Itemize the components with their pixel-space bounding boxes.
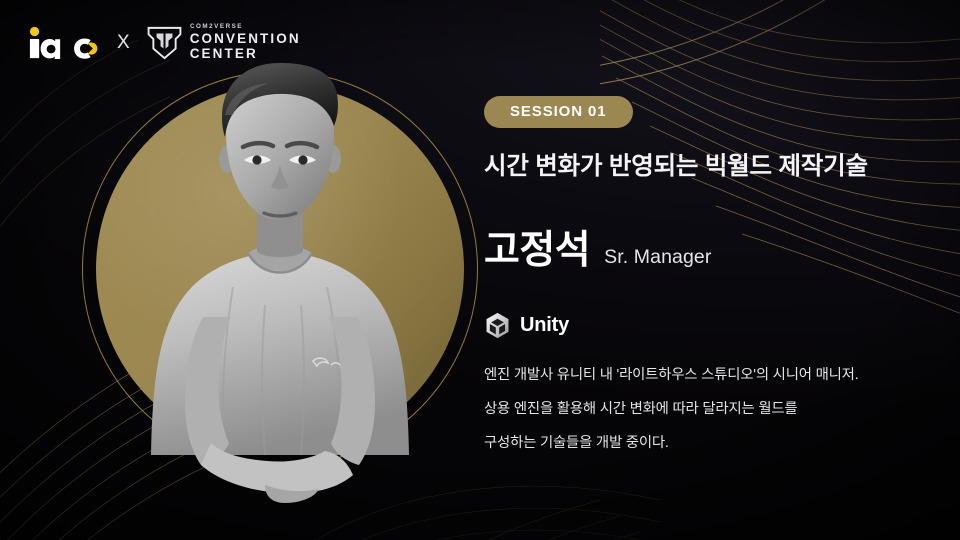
ccc-line-center: CENTER: [190, 47, 301, 61]
ccc-line-com2verse: COM2VERSE: [190, 24, 297, 31]
com2verse-convention-center-logo[interactable]: COM2VERSE CONVENTION CENTER: [147, 24, 301, 61]
igc-logo[interactable]: [26, 26, 100, 59]
bio-line: 상용 엔진을 활용해 시간 변화에 따라 달라지는 월드를: [484, 402, 924, 416]
page-title: 시간 변화가 반영되는 빅월드 제작기술: [484, 152, 924, 183]
company-name: Unity: [520, 315, 569, 335]
ccc-shield-icon: [147, 26, 182, 60]
speaker-portrait: [96, 85, 464, 453]
status-badge: SESSION 01: [484, 96, 633, 128]
slide-canvas: X COM2VERSE CONVENTION CENTER: [0, 0, 960, 540]
speaker-identity: 고정석 Sr. Manager: [484, 231, 924, 270]
speaker-role: Sr. Manager: [604, 248, 711, 268]
speaker-name: 고정석: [484, 231, 590, 270]
logo-separator-x: X: [114, 33, 133, 52]
igc-dot: [30, 27, 39, 36]
portrait-photo-image: [115, 55, 445, 525]
session-info-panel: SESSION 01 시간 변화가 반영되는 빅월드 제작기술 고정석 Sr. …: [484, 96, 924, 451]
ccc-line-convention: CONVENTION: [190, 32, 301, 46]
unity-cube-icon: [484, 312, 511, 339]
company-logo: Unity: [484, 312, 924, 339]
header-logo-bar: X COM2VERSE CONVENTION CENTER: [26, 24, 301, 61]
bio-line: 구성하는 기술들을 개발 중이다.: [484, 436, 924, 450]
bio-line: 엔진 개발사 유니티 내 '라이트하우스 스튜디오'의 시니어 매니저.: [484, 368, 924, 382]
speaker-bio: 엔진 개발사 유니티 내 '라이트하우스 스튜디오'의 시니어 매니저. 상용 …: [484, 368, 924, 451]
